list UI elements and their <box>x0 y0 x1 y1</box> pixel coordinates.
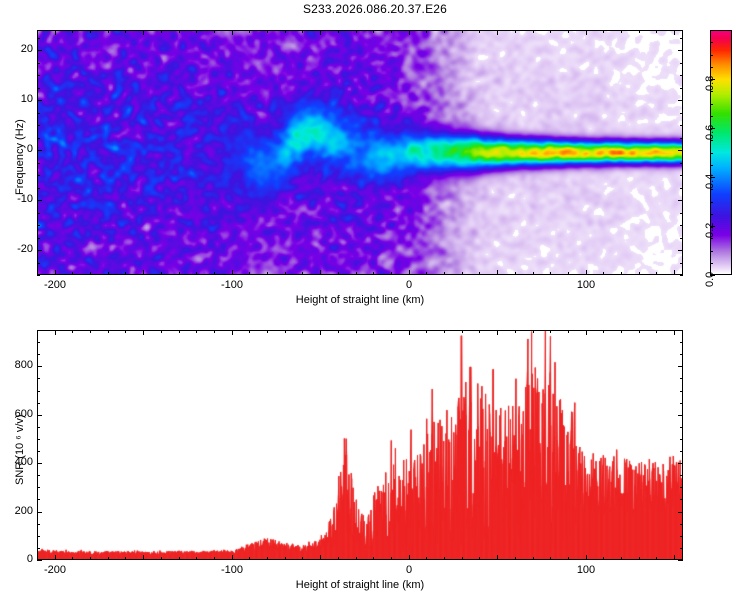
x-minor-tick <box>338 30 339 33</box>
y-minor-tick <box>680 451 683 452</box>
x-minor-tick <box>302 330 303 333</box>
y-tick <box>678 560 683 561</box>
y-minor-tick <box>37 263 40 264</box>
x-minor-tick <box>479 557 480 560</box>
y-minor-tick <box>37 487 40 488</box>
y-tick <box>37 512 42 513</box>
x-minor-tick <box>391 272 392 275</box>
y-minor-tick <box>37 330 40 331</box>
x-minor-tick <box>90 30 91 33</box>
y-minor-tick <box>37 378 40 379</box>
colorbar-tick-label: 0.0 <box>704 272 716 287</box>
x-minor-tick <box>550 272 551 275</box>
x-minor-tick <box>373 272 374 275</box>
x-minor-tick <box>391 30 392 33</box>
x-minor-tick <box>72 557 73 560</box>
colorbar-minor-tick <box>710 55 713 56</box>
x-minor-tick <box>338 330 339 333</box>
y-tick-label: 800 <box>3 359 33 371</box>
x-minor-tick <box>479 272 480 275</box>
y-minor-tick <box>37 88 40 89</box>
x-minor-tick <box>550 30 551 33</box>
x-tick-label: -100 <box>216 279 248 291</box>
x-minor-tick <box>179 30 180 33</box>
y-tick-label: -20 <box>3 243 33 255</box>
colorbar-minor-tick <box>710 140 713 141</box>
x-minor-tick <box>302 557 303 560</box>
x-minor-tick <box>356 557 357 560</box>
x-minor-tick <box>179 557 180 560</box>
x-minor-tick <box>656 557 657 560</box>
colorbar-minor-tick <box>710 214 713 215</box>
y-tick <box>37 100 42 101</box>
y-minor-tick <box>680 38 683 39</box>
y-minor-tick <box>680 138 683 139</box>
x-minor-tick <box>568 330 569 333</box>
x-minor-tick <box>373 557 374 560</box>
x-minor-tick <box>37 30 38 33</box>
x-minor-tick <box>249 272 250 275</box>
x-minor-tick <box>533 272 534 275</box>
y-minor-tick <box>37 38 40 39</box>
y-minor-tick <box>680 475 683 476</box>
x-minor-tick <box>214 272 215 275</box>
y-minor-tick <box>680 263 683 264</box>
x-tick-label: 100 <box>570 564 602 576</box>
x-minor-tick <box>639 30 640 33</box>
y-minor-tick <box>37 63 40 64</box>
x-minor-tick <box>196 272 197 275</box>
x-minor-tick <box>426 330 427 333</box>
y-minor-tick <box>37 75 40 76</box>
x-minor-tick <box>603 557 604 560</box>
colorbar-minor-tick <box>710 153 713 154</box>
x-tick <box>674 30 675 35</box>
y-minor-tick <box>680 536 683 537</box>
snr-trace <box>38 331 682 559</box>
y-tick <box>37 250 42 251</box>
x-minor-tick <box>356 272 357 275</box>
x-tick <box>586 555 587 560</box>
y-tick <box>37 200 42 201</box>
spectrogram-ylabel: Frequency (Hz) <box>14 119 26 195</box>
y-minor-tick <box>37 138 40 139</box>
x-minor-tick <box>603 330 604 333</box>
y-minor-tick <box>680 113 683 114</box>
x-tick <box>586 330 587 335</box>
x-tick <box>320 30 321 35</box>
x-tick <box>55 30 56 35</box>
x-minor-tick <box>214 30 215 33</box>
x-tick <box>674 330 675 335</box>
x-minor-tick <box>533 330 534 333</box>
x-minor-tick <box>603 272 604 275</box>
y-minor-tick <box>37 163 40 164</box>
x-minor-tick <box>479 330 480 333</box>
colorbar-minor-tick <box>710 116 713 117</box>
colorbar-tick-label: 0.4 <box>704 174 716 189</box>
y-tick <box>678 250 683 251</box>
colorbar-minor-tick <box>710 91 713 92</box>
y-tick <box>37 463 42 464</box>
x-minor-tick <box>621 272 622 275</box>
x-minor-tick <box>621 557 622 560</box>
x-minor-tick <box>568 30 569 33</box>
x-minor-tick <box>161 272 162 275</box>
x-minor-tick <box>302 30 303 33</box>
x-minor-tick <box>621 330 622 333</box>
x-tick <box>143 270 144 275</box>
colorbar-minor-tick <box>710 238 713 239</box>
x-minor-tick <box>285 557 286 560</box>
colorbar-minor-tick <box>710 263 713 264</box>
x-tick <box>674 270 675 275</box>
x-minor-tick <box>72 330 73 333</box>
y-minor-tick <box>37 342 40 343</box>
spectrogram-xlabel: Height of straight line (km) <box>37 294 683 306</box>
x-minor-tick <box>267 557 268 560</box>
y-tick <box>37 50 42 51</box>
x-minor-tick <box>533 30 534 33</box>
colorbar-minor-tick <box>710 165 713 166</box>
y-minor-tick <box>37 225 40 226</box>
x-minor-tick <box>444 272 445 275</box>
x-minor-tick <box>515 330 516 333</box>
y-tick <box>678 366 683 367</box>
y-tick <box>678 463 683 464</box>
x-tick-label: 0 <box>393 279 425 291</box>
x-minor-tick <box>373 30 374 33</box>
x-minor-tick <box>108 557 109 560</box>
y-minor-tick <box>37 451 40 452</box>
colorbar-tick-label: 0.8 <box>704 76 716 91</box>
y-minor-tick <box>37 403 40 404</box>
x-minor-tick <box>196 557 197 560</box>
y-minor-tick <box>680 125 683 126</box>
colorbar-minor-tick <box>710 251 713 252</box>
snr-xlabel: Height of straight line (km) <box>37 579 683 591</box>
x-minor-tick <box>391 330 392 333</box>
y-minor-tick <box>37 391 40 392</box>
x-minor-tick <box>125 330 126 333</box>
y-minor-tick <box>37 499 40 500</box>
x-minor-tick <box>161 30 162 33</box>
x-tick <box>320 555 321 560</box>
y-minor-tick <box>37 475 40 476</box>
x-minor-tick <box>72 272 73 275</box>
x-minor-tick <box>90 272 91 275</box>
x-minor-tick <box>108 30 109 33</box>
y-minor-tick <box>37 354 40 355</box>
x-minor-tick <box>125 557 126 560</box>
y-minor-tick <box>680 238 683 239</box>
x-tick <box>320 270 321 275</box>
x-minor-tick <box>90 330 91 333</box>
x-minor-tick <box>444 330 445 333</box>
x-tick <box>409 330 410 335</box>
x-tick <box>586 270 587 275</box>
x-minor-tick <box>656 272 657 275</box>
y-tick-label: 0 <box>3 553 33 565</box>
y-minor-tick <box>680 391 683 392</box>
y-minor-tick <box>680 213 683 214</box>
x-tick <box>586 30 587 35</box>
x-minor-tick <box>179 272 180 275</box>
y-minor-tick <box>680 330 683 331</box>
y-minor-tick <box>680 188 683 189</box>
x-minor-tick <box>285 272 286 275</box>
y-minor-tick <box>680 499 683 500</box>
x-minor-tick <box>444 30 445 33</box>
x-minor-tick <box>108 272 109 275</box>
x-minor-tick <box>373 330 374 333</box>
x-minor-tick <box>426 557 427 560</box>
y-minor-tick <box>37 548 40 549</box>
x-tick <box>497 30 498 35</box>
x-minor-tick <box>426 272 427 275</box>
y-minor-tick <box>37 427 40 428</box>
y-minor-tick <box>37 439 40 440</box>
x-minor-tick <box>72 30 73 33</box>
y-tick <box>678 200 683 201</box>
y-minor-tick <box>680 75 683 76</box>
y-minor-tick <box>37 113 40 114</box>
x-tick-label: 100 <box>570 279 602 291</box>
x-minor-tick <box>125 272 126 275</box>
y-minor-tick <box>680 548 683 549</box>
x-minor-tick <box>426 30 427 33</box>
x-minor-tick <box>515 557 516 560</box>
x-minor-tick <box>639 557 640 560</box>
y-tick <box>678 100 683 101</box>
x-minor-tick <box>462 30 463 33</box>
x-tick <box>143 30 144 35</box>
x-minor-tick <box>515 272 516 275</box>
x-minor-tick <box>249 330 250 333</box>
x-tick <box>232 30 233 35</box>
colorbar-minor-tick <box>710 30 713 31</box>
y-tick <box>37 415 42 416</box>
y-minor-tick <box>680 427 683 428</box>
x-tick <box>320 330 321 335</box>
x-minor-tick <box>639 272 640 275</box>
x-minor-tick <box>479 30 480 33</box>
y-tick <box>678 415 683 416</box>
x-minor-tick <box>302 272 303 275</box>
x-tick <box>674 555 675 560</box>
y-minor-tick <box>680 487 683 488</box>
y-minor-tick <box>680 354 683 355</box>
y-minor-tick <box>37 524 40 525</box>
x-minor-tick <box>391 557 392 560</box>
x-minor-tick <box>568 272 569 275</box>
colorbar-minor-tick <box>710 67 713 68</box>
y-tick <box>678 50 683 51</box>
x-minor-tick <box>179 330 180 333</box>
x-minor-tick <box>621 30 622 33</box>
x-minor-tick <box>196 30 197 33</box>
y-minor-tick <box>680 439 683 440</box>
x-tick-label: 0 <box>393 564 425 576</box>
x-minor-tick <box>550 330 551 333</box>
x-minor-tick <box>249 557 250 560</box>
y-tick <box>37 150 42 151</box>
x-minor-tick <box>267 272 268 275</box>
y-tick <box>37 366 42 367</box>
y-tick <box>678 512 683 513</box>
y-minor-tick <box>680 63 683 64</box>
x-minor-tick <box>90 557 91 560</box>
y-tick-label: 10 <box>3 93 33 105</box>
page-title: S233.2026.086.20.37.E26 <box>0 2 750 16</box>
x-minor-tick <box>639 330 640 333</box>
colorbar-tick-label: 0.2 <box>704 223 716 238</box>
x-minor-tick <box>515 30 516 33</box>
x-minor-tick <box>338 557 339 560</box>
x-tick-label: -200 <box>39 564 71 576</box>
x-minor-tick <box>356 30 357 33</box>
colorbar-minor-tick <box>710 104 713 105</box>
x-tick <box>55 330 56 335</box>
x-minor-tick <box>161 330 162 333</box>
y-tick <box>37 560 42 561</box>
y-minor-tick <box>37 125 40 126</box>
y-minor-tick <box>680 88 683 89</box>
y-minor-tick <box>37 175 40 176</box>
x-minor-tick <box>568 557 569 560</box>
colorbar-tick-label: 0.6 <box>704 125 716 140</box>
x-tick <box>497 330 498 335</box>
spectrogram-image <box>38 31 682 274</box>
x-tick <box>409 30 410 35</box>
x-minor-tick <box>338 272 339 275</box>
x-minor-tick <box>603 30 604 33</box>
x-tick <box>232 270 233 275</box>
x-minor-tick <box>656 30 657 33</box>
x-minor-tick <box>214 330 215 333</box>
x-tick-label: -200 <box>39 279 71 291</box>
colorbar-minor-tick <box>710 189 713 190</box>
x-tick <box>55 555 56 560</box>
x-minor-tick <box>656 330 657 333</box>
x-tick <box>55 270 56 275</box>
y-minor-tick <box>680 175 683 176</box>
y-minor-tick <box>680 342 683 343</box>
x-minor-tick <box>214 557 215 560</box>
x-minor-tick <box>444 557 445 560</box>
x-minor-tick <box>550 557 551 560</box>
x-minor-tick <box>161 557 162 560</box>
y-tick-label: 20 <box>3 43 33 55</box>
x-minor-tick <box>125 30 126 33</box>
x-minor-tick <box>462 330 463 333</box>
x-minor-tick <box>285 30 286 33</box>
y-tick-label: 200 <box>3 505 33 517</box>
figure-root: S233.2026.086.20.37.E26 -200-1000100-20-… <box>0 0 750 600</box>
y-tick <box>678 150 683 151</box>
colorbar-minor-tick <box>710 202 713 203</box>
x-minor-tick <box>356 330 357 333</box>
y-minor-tick <box>680 524 683 525</box>
x-tick <box>143 330 144 335</box>
x-minor-tick <box>267 30 268 33</box>
y-minor-tick <box>37 275 40 276</box>
x-tick <box>409 270 410 275</box>
x-tick <box>497 555 498 560</box>
y-minor-tick <box>680 403 683 404</box>
x-minor-tick <box>196 330 197 333</box>
x-tick <box>497 270 498 275</box>
x-tick <box>143 555 144 560</box>
x-minor-tick <box>462 272 463 275</box>
y-minor-tick <box>680 225 683 226</box>
x-tick-label: -100 <box>216 564 248 576</box>
x-tick <box>232 555 233 560</box>
snr-ylabel: SNR (10 ⁶ v/v) <box>14 414 26 485</box>
x-tick <box>232 330 233 335</box>
y-minor-tick <box>680 378 683 379</box>
y-minor-tick <box>680 163 683 164</box>
y-minor-tick <box>37 536 40 537</box>
x-minor-tick <box>249 30 250 33</box>
x-tick <box>409 555 410 560</box>
y-minor-tick <box>37 213 40 214</box>
x-minor-tick <box>285 330 286 333</box>
y-minor-tick <box>37 238 40 239</box>
colorbar-minor-tick <box>710 42 713 43</box>
x-minor-tick <box>267 330 268 333</box>
x-minor-tick <box>462 557 463 560</box>
y-minor-tick <box>680 275 683 276</box>
x-minor-tick <box>533 557 534 560</box>
y-minor-tick <box>37 188 40 189</box>
x-minor-tick <box>108 330 109 333</box>
